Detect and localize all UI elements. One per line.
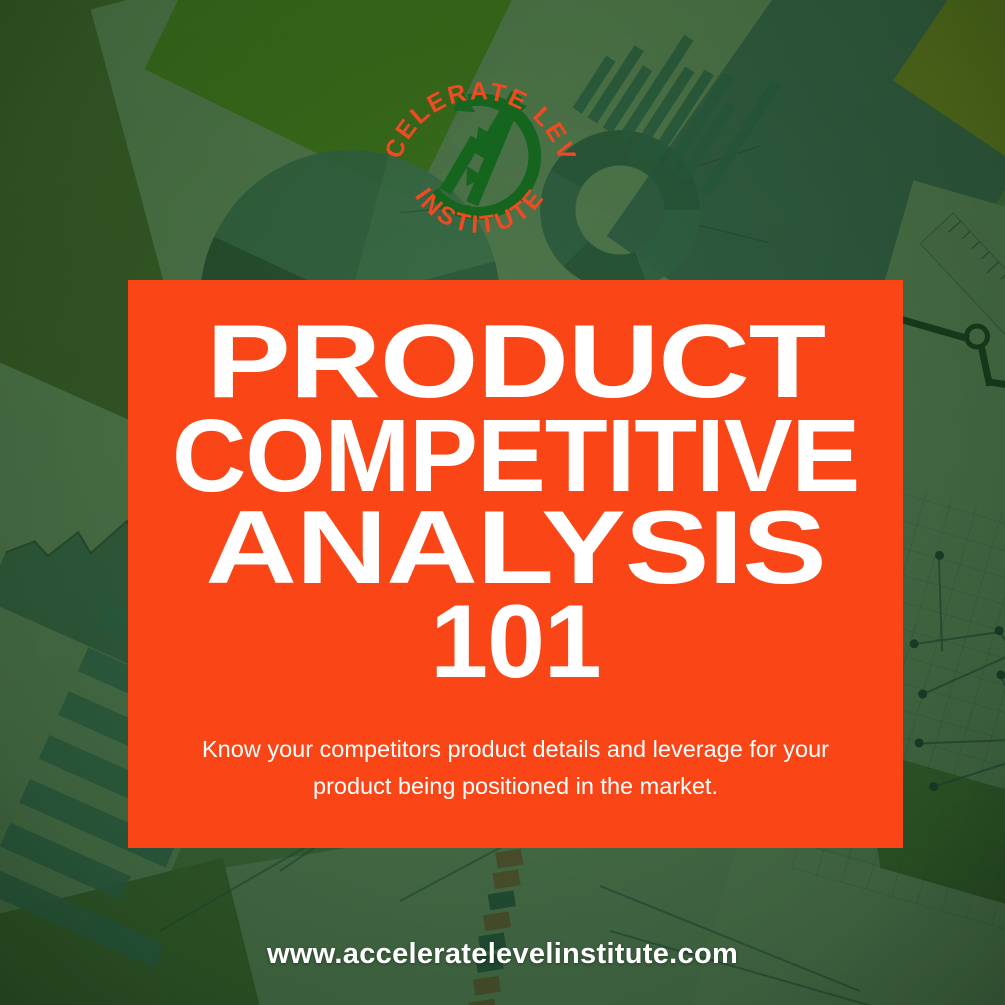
poster-canvas: ACCELERATE LEVEL INSTITUTE PRODUCT COMPE… bbox=[0, 0, 1005, 1005]
page-title: PRODUCT COMPETITIVE ANALYSIS 101 bbox=[172, 316, 859, 689]
title-line-4: 101 bbox=[172, 596, 859, 690]
website-url[interactable]: www.acceleratelevelinstitute.com bbox=[0, 938, 1005, 971]
title-line-3: ANALYSIS bbox=[96, 502, 934, 596]
title-line-1: PRODUCT bbox=[96, 316, 934, 410]
subtitle-text: Know your competitors product details an… bbox=[201, 731, 831, 804]
headline-card: PRODUCT COMPETITIVE ANALYSIS 101 Know yo… bbox=[128, 280, 903, 848]
brand-logo: ACCELERATE LEVEL INSTITUTE bbox=[382, 58, 578, 254]
title-line-2: COMPETITIVE bbox=[172, 410, 859, 503]
